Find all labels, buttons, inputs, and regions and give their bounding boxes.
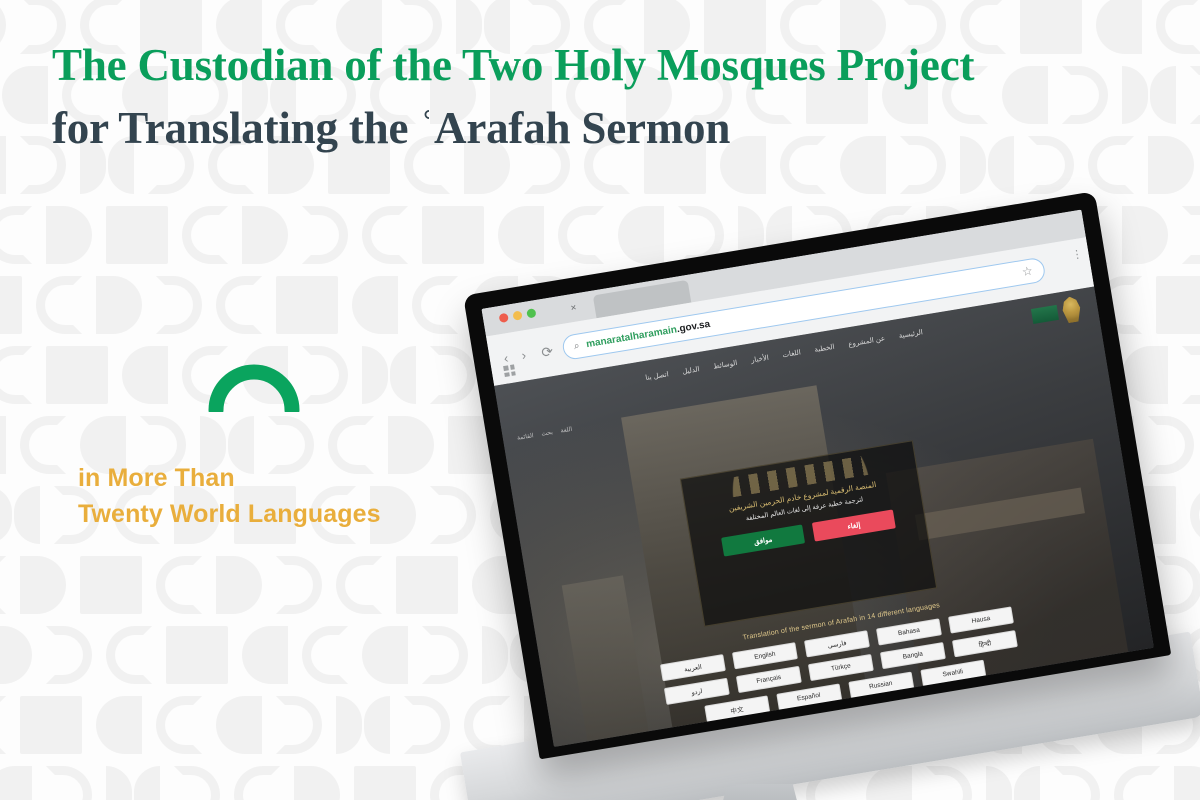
pattern-motif-icon xyxy=(412,276,458,334)
pattern-motif-icon xyxy=(0,136,6,194)
pattern-motif-icon xyxy=(46,626,92,684)
site-toolbar-item-1[interactable]: بحث xyxy=(541,429,553,438)
language-button[interactable]: 中文 xyxy=(704,695,770,722)
site-logo[interactable] xyxy=(1030,292,1090,331)
pattern-motif-icon xyxy=(362,206,408,264)
accept-button[interactable]: موافق xyxy=(721,525,805,557)
pattern-motif-icon xyxy=(404,696,450,754)
pattern-motif-icon xyxy=(174,766,220,800)
page-title: The Custodian of the Two Holy Mosques Pr… xyxy=(52,34,1172,160)
pattern-motif-icon xyxy=(0,766,32,800)
desktop-monitor: × ‹ › ⟳ ⌕ manarata xyxy=(455,222,1195,800)
pattern-motif-icon xyxy=(396,556,458,614)
green-arch-icon xyxy=(208,358,300,412)
pattern-motif-icon xyxy=(216,556,262,614)
pattern-motif-icon xyxy=(276,556,322,614)
pattern-motif-icon xyxy=(336,696,390,754)
pattern-motif-icon xyxy=(20,556,66,614)
site-nav-item-1[interactable]: عن المشروع xyxy=(848,334,886,348)
pattern-motif-icon xyxy=(294,766,340,800)
language-button[interactable]: Swahili xyxy=(920,660,986,687)
pattern-motif-icon xyxy=(276,696,322,754)
pattern-motif-icon xyxy=(20,696,82,754)
pattern-motif-icon xyxy=(2,66,48,124)
site-nav-item-4[interactable]: الأخبار xyxy=(750,354,769,365)
pattern-motif-icon xyxy=(0,486,40,544)
pattern-motif-icon xyxy=(302,346,348,404)
monitor-stand xyxy=(717,784,803,800)
pattern-motif-icon xyxy=(302,626,348,684)
pattern-motif-icon xyxy=(46,206,92,264)
site-toolbar-item-0[interactable]: اللغة xyxy=(560,426,573,435)
pattern-motif-icon xyxy=(20,416,66,474)
pattern-motif-icon xyxy=(302,206,348,264)
logo-wordmark-icon xyxy=(1031,304,1059,323)
language-button[interactable]: हिन्दी xyxy=(952,630,1018,657)
pattern-motif-icon xyxy=(336,556,382,614)
pattern-motif-icon xyxy=(96,696,142,754)
language-button[interactable]: Français xyxy=(736,666,802,693)
tab-close-icon[interactable]: × xyxy=(570,303,577,314)
pattern-motif-icon xyxy=(362,346,416,404)
pattern-motif-icon xyxy=(156,276,202,334)
back-icon[interactable]: ‹ xyxy=(503,351,509,365)
pattern-motif-icon xyxy=(0,556,6,614)
poster-canvas: The Custodian of the Two Holy Mosques Pr… xyxy=(0,0,1200,800)
pattern-motif-icon xyxy=(0,626,32,684)
pattern-motif-icon xyxy=(242,626,288,684)
language-button[interactable]: Türkçe xyxy=(808,654,874,681)
title-line-secondary: for Translating the ʿArafah Sermon xyxy=(52,97,1172,160)
pattern-motif-icon xyxy=(1190,66,1200,124)
site-nav-item-2[interactable]: الخطبة xyxy=(814,343,835,354)
pattern-motif-icon xyxy=(242,206,288,264)
address-bar-url: manaratalharamain.gov.sa xyxy=(585,319,711,350)
pattern-motif-icon xyxy=(166,626,228,684)
pattern-motif-icon xyxy=(46,766,92,800)
pattern-motif-icon xyxy=(234,766,280,800)
pattern-motif-icon xyxy=(156,696,202,754)
pattern-motif-icon xyxy=(36,276,82,334)
pattern-motif-icon xyxy=(362,626,408,684)
language-button[interactable]: Bahasa xyxy=(876,618,942,645)
site-nav-item-6[interactable]: الدليل xyxy=(682,365,700,376)
site-toolbar-item-2[interactable]: القائمة xyxy=(517,432,535,442)
logo-emblem-icon xyxy=(1059,295,1085,324)
pattern-motif-icon xyxy=(0,416,6,474)
reload-icon[interactable]: ⟳ xyxy=(540,344,554,360)
pattern-motif-icon xyxy=(106,206,168,264)
url-tld: .gov.sa xyxy=(676,319,711,335)
pattern-motif-icon xyxy=(106,626,152,684)
pattern-motif-icon xyxy=(354,766,416,800)
pattern-motif-icon xyxy=(96,276,142,334)
pattern-motif-icon xyxy=(0,276,22,334)
pattern-motif-icon xyxy=(276,276,338,334)
pattern-motif-icon xyxy=(352,276,398,334)
pattern-motif-icon xyxy=(156,556,202,614)
url-domain: manaratalharamain xyxy=(585,324,677,350)
search-icon: ⌕ xyxy=(573,340,580,352)
pattern-motif-icon xyxy=(46,346,108,404)
pattern-motif-icon xyxy=(216,276,262,334)
pattern-motif-icon xyxy=(182,206,228,264)
pattern-motif-icon xyxy=(106,766,160,800)
decline-button[interactable]: إلغاء xyxy=(812,510,896,542)
language-button[interactable]: اردو xyxy=(664,678,730,705)
bookmark-star-icon[interactable]: ☆ xyxy=(1021,263,1034,279)
pattern-motif-icon xyxy=(122,346,168,404)
browser-menu-icon[interactable]: ⋮ xyxy=(1071,253,1075,258)
forward-icon[interactable]: › xyxy=(521,348,527,362)
site-nav-item-5[interactable]: الوسائط xyxy=(713,359,738,371)
language-button[interactable]: Russian xyxy=(848,672,914,699)
language-button[interactable]: Español xyxy=(776,684,842,711)
pattern-motif-icon xyxy=(0,0,6,54)
site-nav-item-0[interactable]: الرئيسية xyxy=(898,328,923,340)
site-nav-item-7[interactable]: اتصل بنا xyxy=(645,370,669,382)
title-line-primary: The Custodian of the Two Holy Mosques Pr… xyxy=(52,34,1172,97)
language-button[interactable]: Bangla xyxy=(880,642,946,669)
site-toolbar[interactable]: اللغةبحثالقائمة xyxy=(517,426,573,442)
site-nav-item-3[interactable]: اللغات xyxy=(782,348,802,359)
pattern-motif-icon xyxy=(0,696,6,754)
apps-grid-icon[interactable] xyxy=(503,364,516,377)
pattern-motif-icon xyxy=(0,346,32,404)
pattern-motif-icon xyxy=(80,556,142,614)
pattern-motif-icon xyxy=(0,206,32,264)
pattern-motif-icon xyxy=(216,696,262,754)
screen-content: × ‹ › ⟳ ⌕ manarata xyxy=(481,210,1153,747)
